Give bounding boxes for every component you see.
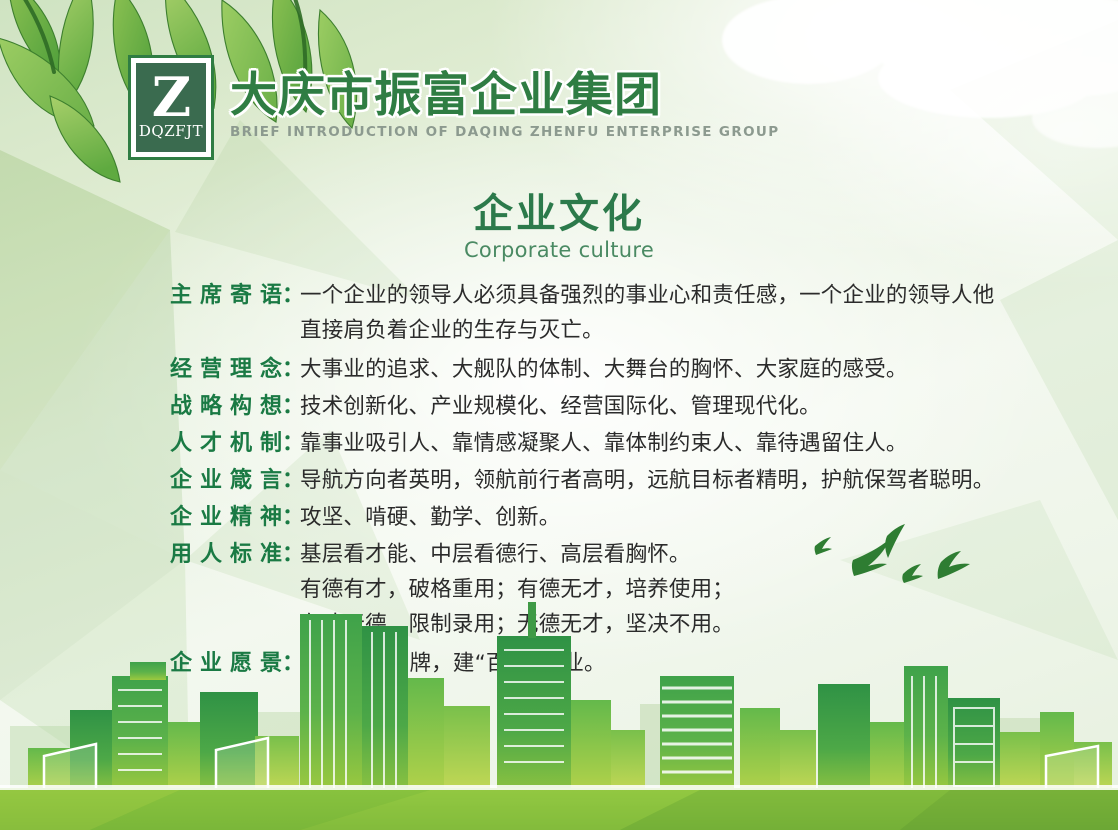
- culture-row-colon: ：: [282, 500, 300, 535]
- company-name-cn: 大庆市振富企业集团: [230, 71, 779, 120]
- culture-row-label: 经营理念: [170, 352, 282, 387]
- culture-row-label: 企业箴言: [170, 463, 282, 498]
- culture-row-colon: ：: [282, 537, 300, 572]
- culture-row-colon: ：: [282, 463, 300, 498]
- culture-row-colon: ：: [282, 389, 300, 424]
- page-title-cn: 企业文化: [0, 192, 1118, 236]
- page-title-block: 企业文化 Corporate culture: [0, 192, 1118, 262]
- culture-row-text: 一个企业的领导人必须具备强烈的事业心和责任感，一个企业的领导人他 直接肩负着企业…: [300, 278, 1050, 348]
- culture-row-line: 攻坚、啃硬、勤学、创新。: [300, 500, 1050, 535]
- header: Z DQZFJT 大庆市振富企业集团 BRIEF INTRODUCTION OF…: [128, 55, 779, 160]
- culture-row: 企业愿景 ： 树“振富”品牌，建“百年”企业。: [170, 646, 1050, 681]
- logo-inner-panel: Z DQZFJT: [136, 63, 206, 152]
- culture-row-colon: ：: [282, 646, 300, 681]
- culture-row-line: 有才无德，限制录用；无德无才，坚决不用。: [300, 607, 1050, 642]
- culture-row-text: 基层看才能、中层看德行、高层看胸怀。 有德有才，破格重用；有德无才，培养使用； …: [300, 537, 1050, 642]
- culture-row-text: 树“振富”品牌，建“百年”企业。: [300, 646, 1050, 681]
- culture-row: 企业精神 ： 攻坚、啃硬、勤学、创新。: [170, 500, 1050, 535]
- culture-row-label: 企业愿景: [170, 646, 282, 681]
- culture-row-line: 大事业的追求、大舰队的体制、大舞台的胸怀、大家庭的感受。: [300, 352, 1050, 387]
- culture-list: 主席寄语 ： 一个企业的领导人必须具备强烈的事业心和责任感，一个企业的领导人他 …: [170, 278, 1050, 683]
- company-logo: Z DQZFJT: [128, 55, 214, 160]
- culture-row-text: 技术创新化、产业规模化、经营国际化、管理现代化。: [300, 389, 1050, 424]
- culture-row: 主席寄语 ： 一个企业的领导人必须具备强烈的事业心和责任感，一个企业的领导人他 …: [170, 278, 1050, 348]
- culture-row-line: 一个企业的领导人必须具备强烈的事业心和责任感，一个企业的领导人他: [300, 278, 1050, 313]
- culture-row-line: 技术创新化、产业规模化、经营国际化、管理现代化。: [300, 389, 1050, 424]
- logo-abbrev-text: DQZFJT: [139, 122, 203, 140]
- culture-row-label: 战略构想: [170, 389, 282, 424]
- culture-row-label: 企业精神: [170, 500, 282, 535]
- poster-canvas: Z DQZFJT 大庆市振富企业集团 BRIEF INTRODUCTION OF…: [0, 0, 1118, 830]
- culture-row-line: 基层看才能、中层看德行、高层看胸怀。: [300, 537, 1050, 572]
- culture-row-label: 用人标准: [170, 537, 282, 572]
- brand-block: 大庆市振富企业集团 BRIEF INTRODUCTION OF DAQING Z…: [230, 55, 779, 140]
- culture-row: 用人标准 ： 基层看才能、中层看德行、高层看胸怀。 有德有才，破格重用；有德无才…: [170, 537, 1050, 642]
- culture-row-text: 导航方向者英明，领航前行者高明，远航目标者精明，护航保驾者聪明。: [300, 463, 1050, 498]
- culture-row: 战略构想 ： 技术创新化、产业规模化、经营国际化、管理现代化。: [170, 389, 1050, 424]
- culture-row-line: 靠事业吸引人、靠情感凝聚人、靠体制约束人、靠待遇留住人。: [300, 426, 1050, 461]
- culture-row-line: 直接肩负着企业的生存与灭亡。: [300, 313, 1050, 348]
- culture-row-label: 人才机制: [170, 426, 282, 461]
- logo-z-mark: Z: [152, 75, 190, 120]
- culture-row-colon: ：: [282, 278, 300, 313]
- culture-row-colon: ：: [282, 352, 300, 387]
- culture-row: 经营理念 ： 大事业的追求、大舰队的体制、大舞台的胸怀、大家庭的感受。: [170, 352, 1050, 387]
- culture-row-colon: ：: [282, 426, 300, 461]
- culture-row-line: 有德有才，破格重用；有德无才，培养使用；: [300, 572, 1050, 607]
- culture-row-label: 主席寄语: [170, 278, 282, 313]
- company-name-en: BRIEF INTRODUCTION OF DAQING ZHENFU ENTE…: [230, 124, 779, 140]
- culture-row: 人才机制 ： 靠事业吸引人、靠情感凝聚人、靠体制约束人、靠待遇留住人。: [170, 426, 1050, 461]
- culture-row-text: 靠事业吸引人、靠情感凝聚人、靠体制约束人、靠待遇留住人。: [300, 426, 1050, 461]
- culture-row-text: 攻坚、啃硬、勤学、创新。: [300, 500, 1050, 535]
- culture-row-line: 导航方向者英明，领航前行者高明，远航目标者精明，护航保驾者聪明。: [300, 463, 1050, 498]
- culture-row-text: 大事业的追求、大舰队的体制、大舞台的胸怀、大家庭的感受。: [300, 352, 1050, 387]
- page-title-en: Corporate culture: [0, 238, 1118, 262]
- culture-row: 企业箴言 ： 导航方向者英明，领航前行者高明，远航目标者精明，护航保驾者聪明。: [170, 463, 1050, 498]
- culture-row-line: 树“振富”品牌，建“百年”企业。: [300, 646, 1050, 681]
